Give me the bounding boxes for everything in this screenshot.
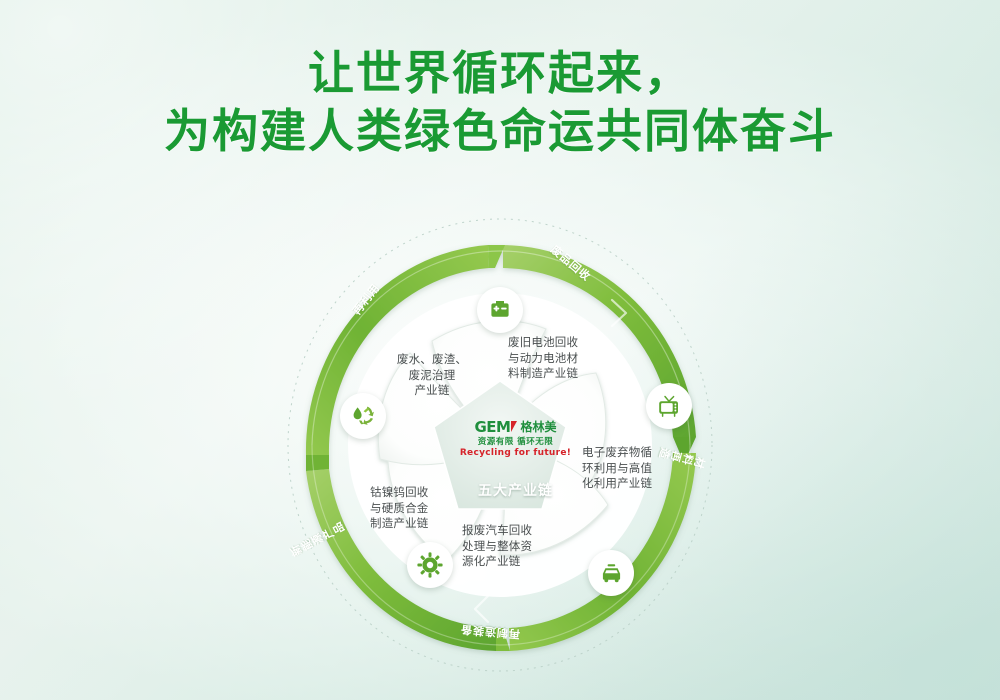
title-line-1: 让世界循环起来， bbox=[0, 44, 1000, 102]
diagram-canvas bbox=[260, 205, 740, 685]
icon-bubble-tv[interactable] bbox=[646, 383, 692, 429]
icon-bubble-battery[interactable] bbox=[477, 287, 523, 333]
icon-bubble-gear[interactable] bbox=[407, 542, 453, 588]
industry-chain-diagram: 再利用 废品回收 材料再造 再制造装备 新能源产品 废旧电池回收 与动力电池材 … bbox=[260, 205, 740, 685]
icon-bubble-recycle-drop[interactable] bbox=[340, 393, 386, 439]
recycle-drop-icon bbox=[349, 402, 377, 430]
page-title: 让世界循环起来， 为构建人类绿色命运共同体奋斗 bbox=[0, 44, 1000, 160]
gear-icon bbox=[416, 551, 444, 579]
tv-icon bbox=[656, 393, 683, 420]
title-line-2: 为构建人类绿色命运共同体奋斗 bbox=[0, 102, 1000, 160]
battery-icon bbox=[487, 297, 513, 323]
car-icon bbox=[598, 560, 625, 587]
icon-bubble-car[interactable] bbox=[588, 550, 634, 596]
